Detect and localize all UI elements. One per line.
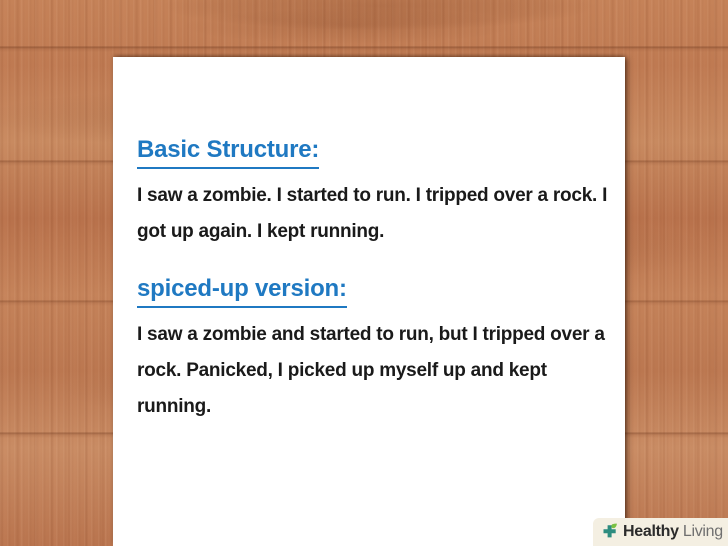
body-spiced-up-version: I saw a zombie and started to run, but I…: [137, 317, 609, 425]
heading-spiced-up-version: spiced-up version:: [137, 275, 347, 308]
screenshot-scene: Basic Structure: I saw a zombie. I start…: [0, 0, 728, 546]
brand-name-bold: Healthy: [623, 523, 679, 540]
text-block-basic-structure: Basic Structure: I saw a zombie. I start…: [137, 136, 609, 250]
brand-name-light: Living: [679, 523, 723, 540]
body-basic-structure: I saw a zombie. I started to run. I trip…: [137, 178, 609, 250]
brand-name: Healthy Living: [623, 523, 723, 541]
healthy-living-watermark: Healthy Living: [593, 518, 728, 546]
text-block-spiced-up-version: spiced-up version: I saw a zombie and st…: [137, 275, 609, 425]
paper-sheet: Basic Structure: I saw a zombie. I start…: [113, 57, 625, 546]
green-cross-leaf-icon: [600, 522, 620, 542]
heading-basic-structure: Basic Structure:: [137, 136, 319, 169]
